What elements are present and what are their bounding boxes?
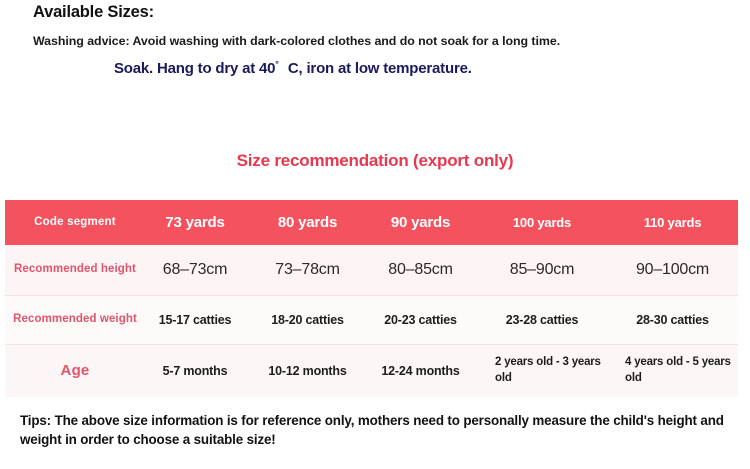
table-header: Code segment 73 yards 80 yards 90 yards …	[5, 200, 738, 245]
table-row-age: Age 5-7 months 10-12 months 12-24 months…	[5, 344, 738, 397]
soak-suffix-text: C, iron at low temperature.	[288, 60, 472, 77]
tips-footer-text: Tips: The above size information is for …	[20, 411, 732, 450]
cell-age-90: 12-24 months	[364, 344, 477, 397]
header-size-73: 73 yards	[139, 200, 251, 245]
cell-weight-100: 23-28 catties	[477, 295, 607, 344]
cell-weight-73: 15-17 catties	[139, 295, 251, 344]
cell-age-73: 5-7 months	[139, 344, 251, 397]
header-size-90: 90 yards	[364, 200, 477, 245]
cell-weight-110: 28-30 catties	[607, 295, 738, 344]
cell-age-80: 10-12 months	[251, 344, 364, 397]
soak-prefix-text: Soak. Hang to dry at 40	[114, 60, 275, 77]
table-row-recommended-height: Recommended height 68–73cm 73–78cm 80–85…	[5, 245, 738, 295]
header-size-80: 80 yards	[251, 200, 364, 245]
table-header-row: Code segment 73 yards 80 yards 90 yards …	[5, 200, 738, 245]
row-label-age: Age	[5, 344, 139, 397]
cell-age-100: 2 years old - 3 years old	[477, 344, 607, 397]
degree-symbol-icon: °	[275, 59, 279, 69]
cell-height-73: 68–73cm	[139, 245, 251, 295]
row-label-recommended-weight: Recommended weight	[5, 295, 139, 344]
header-size-110: 110 yards	[607, 200, 738, 245]
cell-weight-80: 18-20 catties	[251, 295, 364, 344]
header-size-100: 100 yards	[477, 200, 607, 245]
cell-height-80: 73–78cm	[251, 245, 364, 295]
size-recommendation-table: Code segment 73 yards 80 yards 90 yards …	[5, 200, 738, 397]
row-label-recommended-height: Recommended height	[5, 245, 139, 295]
cell-weight-90: 20-23 catties	[364, 295, 477, 344]
cell-age-110: 4 years old - 5 years old	[607, 344, 738, 397]
cell-height-110: 90–100cm	[607, 245, 738, 295]
soak-instruction-line: Soak. Hang to dry at 40°C, iron at low t…	[114, 59, 472, 77]
washing-advice-text: Washing advice: Avoid washing with dark-…	[33, 34, 560, 48]
header-code-segment: Code segment	[5, 200, 139, 245]
size-recommendation-title: Size recommendation (export only)	[0, 151, 750, 171]
available-sizes-heading: Available Sizes:	[33, 3, 154, 22]
table-body: Recommended height 68–73cm 73–78cm 80–85…	[5, 245, 738, 397]
cell-height-100: 85–90cm	[477, 245, 607, 295]
table-row-recommended-weight: Recommended weight 15-17 catties 18-20 c…	[5, 295, 738, 344]
cell-height-90: 80–85cm	[364, 245, 477, 295]
size-chart-page: Available Sizes: Washing advice: Avoid w…	[0, 0, 750, 469]
